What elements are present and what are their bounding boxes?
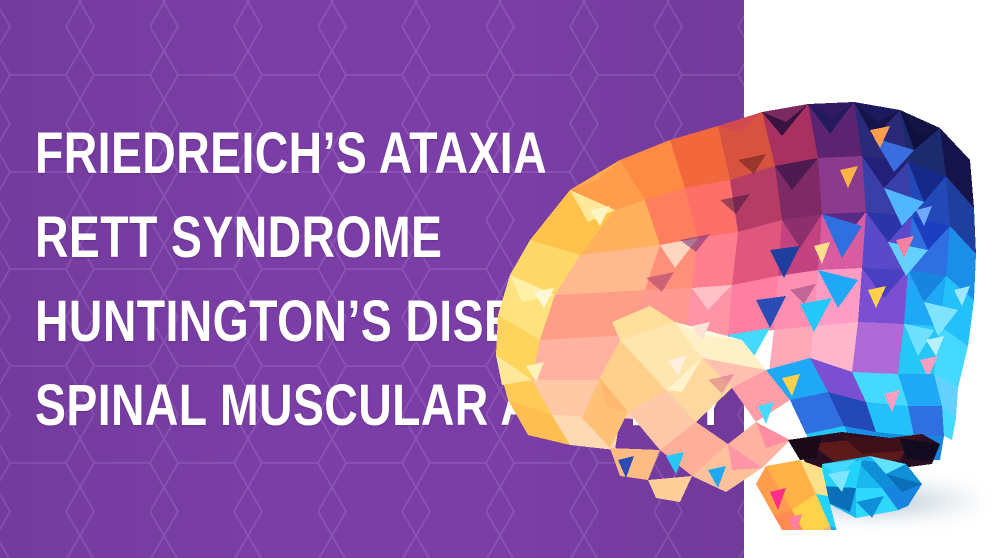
banner-canvas: FRIEDREICH’S ATAXIA RETT SYNDROME HUNTIN…: [0, 0, 992, 558]
brain-illustration: [470, 40, 992, 530]
